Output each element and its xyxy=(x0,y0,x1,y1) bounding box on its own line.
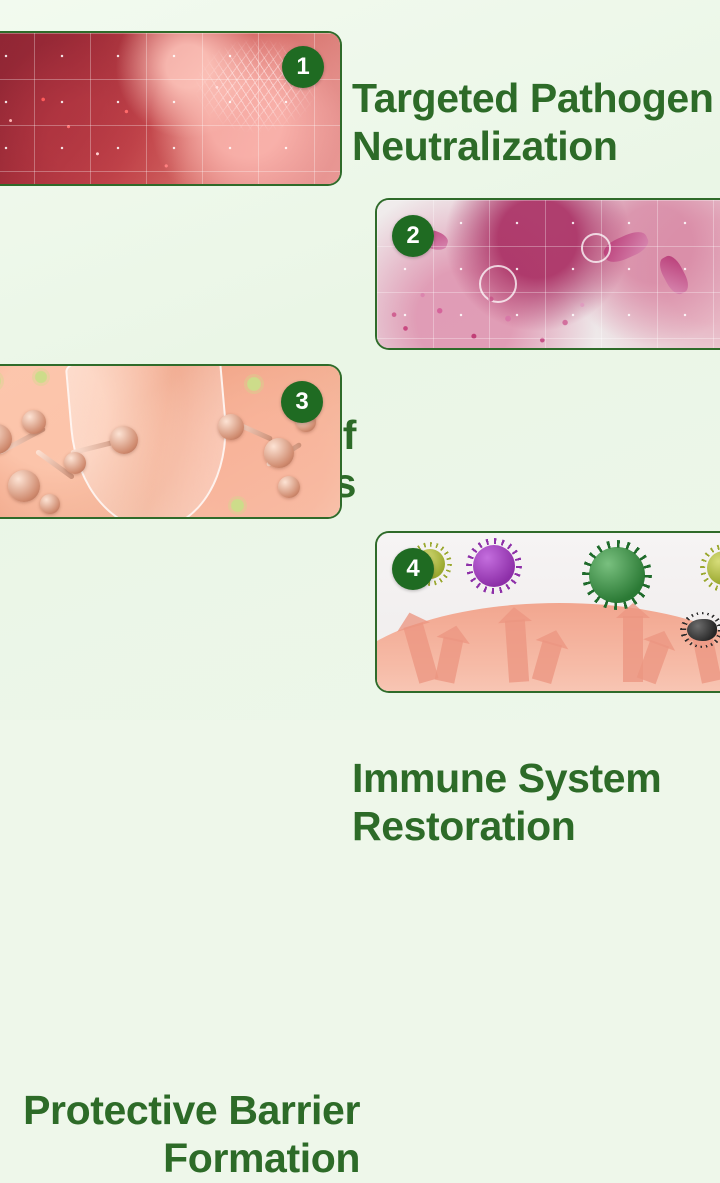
step-badge-3: 3 xyxy=(281,381,323,423)
microbe-icon xyxy=(246,376,262,392)
step-row-4: Protective Barrier Formation 4 xyxy=(0,531,720,693)
shield-icon xyxy=(65,364,236,519)
step-image-card-2: 2 xyxy=(375,198,720,350)
microbe-icon xyxy=(34,370,48,384)
step-row-2: Disruption of Infection Cycles 2 xyxy=(0,198,720,350)
infographic-root: 1 Targeted Pathogen Neutralization Disru… xyxy=(0,0,720,720)
step-heading-4: Protective Barrier Formation xyxy=(8,1087,360,1183)
step-badge-2: 2 xyxy=(392,215,434,257)
step-image-card-4: 4 xyxy=(375,531,720,693)
virus-icon xyxy=(589,547,645,603)
step-image-card-3: 3 xyxy=(0,364,342,519)
step-badge-4: 4 xyxy=(392,548,434,590)
step-badge-1: 1 xyxy=(282,46,324,88)
step-heading-3: Immune System Restoration xyxy=(352,755,720,851)
step-row-1: 1 Targeted Pathogen Neutralization xyxy=(0,31,720,186)
step-row-3: 3 Immune System Restoration xyxy=(0,364,720,519)
virus-icon xyxy=(707,551,720,585)
step-image-card-1: 1 xyxy=(0,31,342,186)
microbe-icon xyxy=(0,372,2,390)
step-heading-1: Targeted Pathogen Neutralization xyxy=(352,75,720,171)
microbe-icon xyxy=(230,498,245,513)
repel-arrow-icon xyxy=(505,619,529,682)
virus-icon xyxy=(473,545,515,587)
microbe-icon xyxy=(687,619,717,641)
